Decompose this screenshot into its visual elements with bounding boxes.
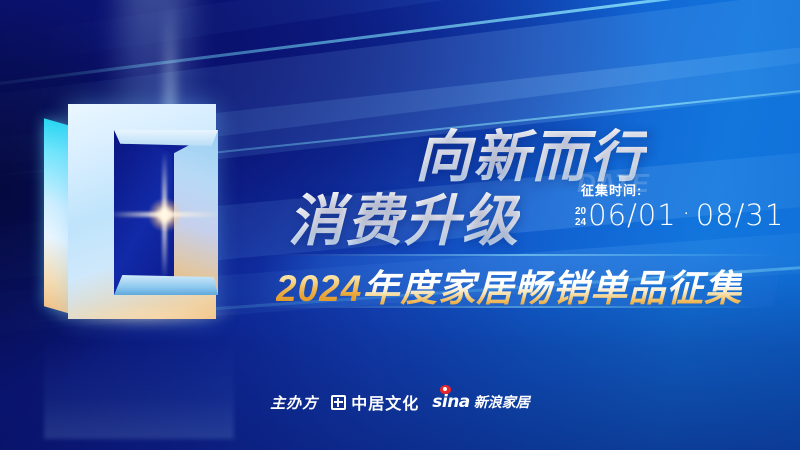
date-start: 06/01 <box>588 198 677 232</box>
organizer-zhongju-name: 中居文化 <box>351 390 419 414</box>
sina-eye-icon <box>440 385 451 394</box>
subtitle-bar: 2024年度家居畅销单品征集 <box>258 252 778 310</box>
square-logo-icon <box>331 395 346 410</box>
sina-logo: sina <box>432 392 470 412</box>
date-range-row: 20 24 06/01 · 08/31 <box>575 198 784 232</box>
sina-wordmark: sina <box>432 392 470 412</box>
year-bottom: 24 <box>575 217 586 228</box>
organizer-label: 主办方 <box>270 392 318 413</box>
organizer-zhongju: 中居文化 <box>331 390 419 414</box>
footer-sponsors: 主办方 中居文化 sina 新浪家居 <box>0 390 800 414</box>
date-end: 08/31 <box>696 198 785 232</box>
year-stack: 20 24 <box>575 202 586 228</box>
date-label: 征集时间: <box>581 180 642 199</box>
headline-line-2: 消费升级 <box>288 176 520 257</box>
subtitle-rest: 年度家居畅销单品征集 <box>362 268 742 309</box>
subtitle-year: 2024 <box>276 268 362 309</box>
year-top: 20 <box>575 206 586 217</box>
promo-banner: 向新而行 消费升级 DATE 征集时间: 20 24 06/01 · 08/31… <box>0 0 800 450</box>
subtitle-text: 2024年度家居畅销单品征集 <box>276 258 742 312</box>
sina-chinese-name: 新浪家居 <box>474 392 530 412</box>
subtitle-bar-top-line <box>268 254 778 256</box>
date-separator-icon: · <box>684 204 689 221</box>
organizer-sina: sina 新浪家居 <box>432 392 530 412</box>
